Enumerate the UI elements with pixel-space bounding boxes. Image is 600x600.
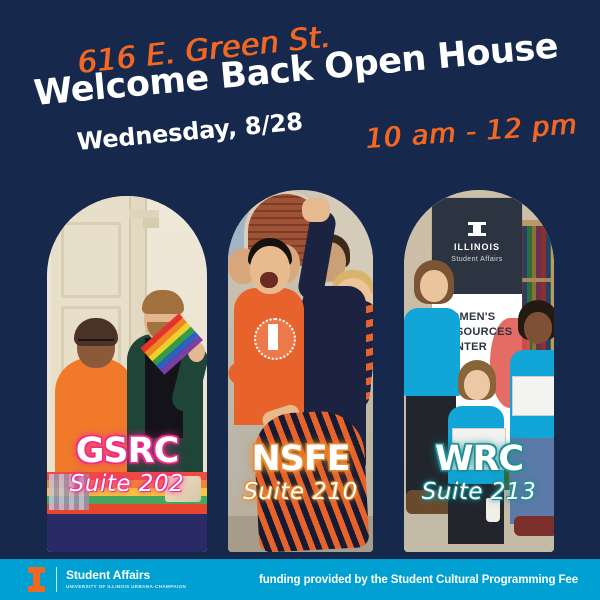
logo-unit-name: Student Affairs — [66, 569, 186, 582]
illinois-student-affairs-logo: Student Affairs UNIVERSITY OF ILLINOIS U… — [28, 567, 186, 592]
photo-card-wrc: ILLINOIS Student Affairs WOMEN'S RESOURC… — [404, 190, 554, 552]
funding-note: funding provided by the Student Cultural… — [259, 574, 578, 586]
photo-image-wrc: ILLINOIS Student Affairs WOMEN'S RESOURC… — [404, 190, 554, 552]
photo-card-nsfe: NSFE Suite 210 — [228, 190, 373, 552]
block-i-icon — [28, 567, 45, 592]
poster-canvas: 616 E. Green St. Welcome Back Open House… — [0, 0, 600, 600]
photo-image-gsrc — [47, 196, 207, 552]
logo-university-name: UNIVERSITY OF ILLINOIS URBANA-CHAMPAIGN — [66, 583, 186, 591]
photo-image-nsfe — [228, 190, 373, 552]
event-time: 10 am - 12 pm — [365, 109, 579, 155]
poster-footer: Student Affairs UNIVERSITY OF ILLINOIS U… — [0, 559, 600, 600]
banner-illinois: ILLINOIS — [432, 242, 522, 252]
photo-card-gsrc: GSRC Suite 202 — [47, 196, 207, 552]
banner-student-affairs: Student Affairs — [432, 256, 522, 263]
photo-gallery: GSRC Suite 202 — [0, 190, 600, 555]
poster-header: 616 E. Green St. Welcome Back Open House… — [0, 0, 600, 185]
logo-divider — [56, 567, 57, 592]
event-date: Wednesday, 8/28 — [76, 108, 304, 156]
